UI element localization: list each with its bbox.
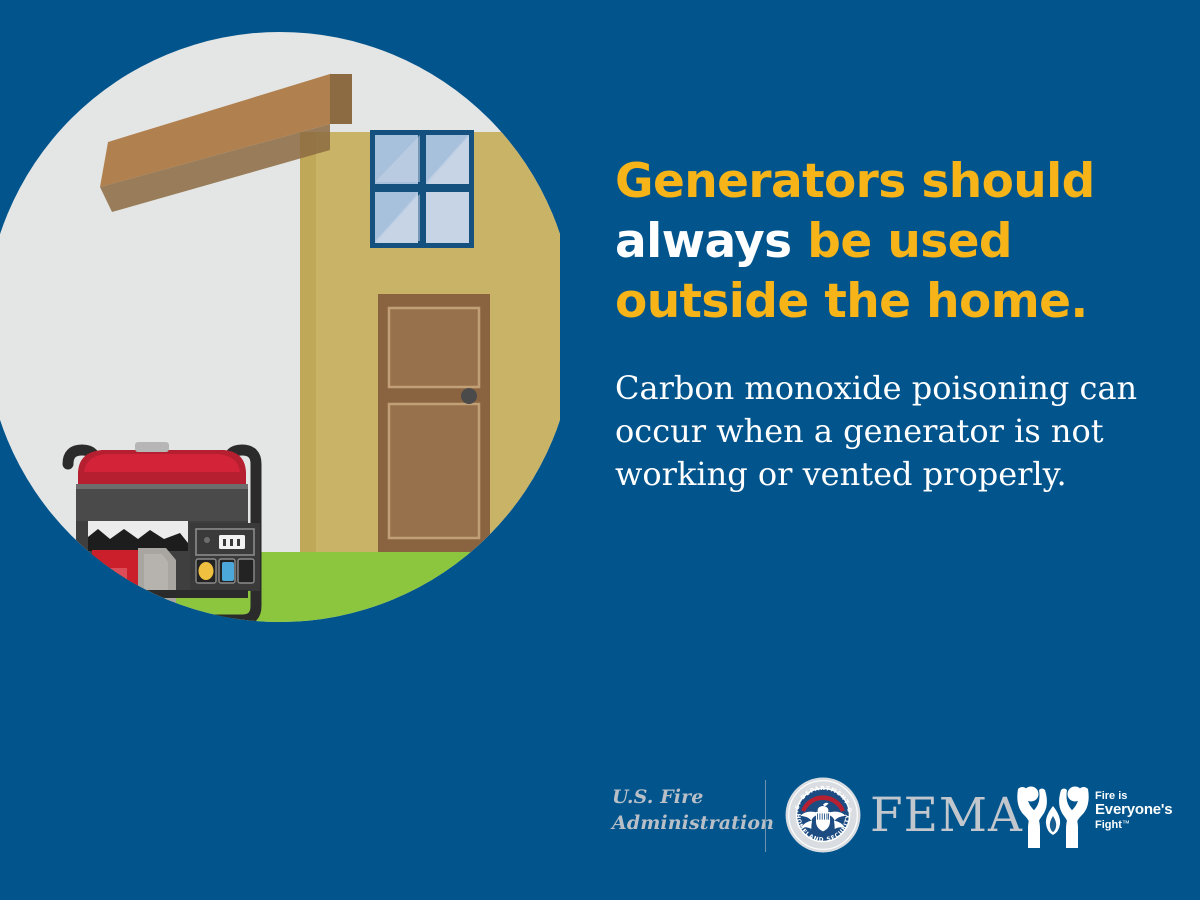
- fema-wordmark: FEMA: [870, 792, 1023, 839]
- illustration-svg: [0, 32, 560, 622]
- feef-trademark: ™: [1122, 819, 1130, 828]
- illustration-house-with-generator: [0, 32, 560, 622]
- body-text: Carbon monoxide poisoning can occur when…: [615, 367, 1155, 496]
- feef-tagline: Fire is Everyone's Fight™: [1095, 790, 1172, 831]
- footer-divider: [765, 780, 766, 852]
- door-knob: [461, 388, 477, 404]
- footer-logo-bar: U.S. Fire Administration: [612, 772, 1172, 864]
- usfa-wordmark: U.S. Fire Administration: [612, 784, 774, 836]
- feef-line-3: Fight™: [1095, 819, 1172, 831]
- headline-part-1: Generators should: [615, 154, 1095, 209]
- two-figures-flame-icon: [1015, 780, 1091, 850]
- usfa-line-1: U.S. Fire: [612, 784, 774, 810]
- generator-engine: [92, 550, 138, 606]
- fire-is-everyones-fight-logo: Fire is Everyone's Fight™: [1015, 778, 1175, 854]
- portable-generator: [68, 442, 260, 620]
- house-window: [370, 130, 474, 248]
- headline-emphasis-always: always: [615, 214, 792, 269]
- house-wall-shadow: [300, 132, 316, 592]
- dhs-seal-icon: U.S. DEPARTMENT OF HOMELAND SECURITY: [784, 776, 862, 854]
- feef-fight-word: Fight: [1095, 819, 1122, 831]
- generator-fuel-cap: [135, 442, 169, 452]
- generator-outlet-blue: [222, 562, 234, 581]
- feef-line-2: Everyone's: [1095, 802, 1172, 819]
- house-door: [378, 294, 490, 552]
- usfa-line-2: Administration: [612, 810, 774, 836]
- generator-outlet-yellow: [199, 562, 214, 580]
- infographic-poster: Generators should always be used outside…: [0, 0, 1200, 900]
- grass: [0, 552, 560, 622]
- headline: Generators should always be used outside…: [615, 152, 1145, 332]
